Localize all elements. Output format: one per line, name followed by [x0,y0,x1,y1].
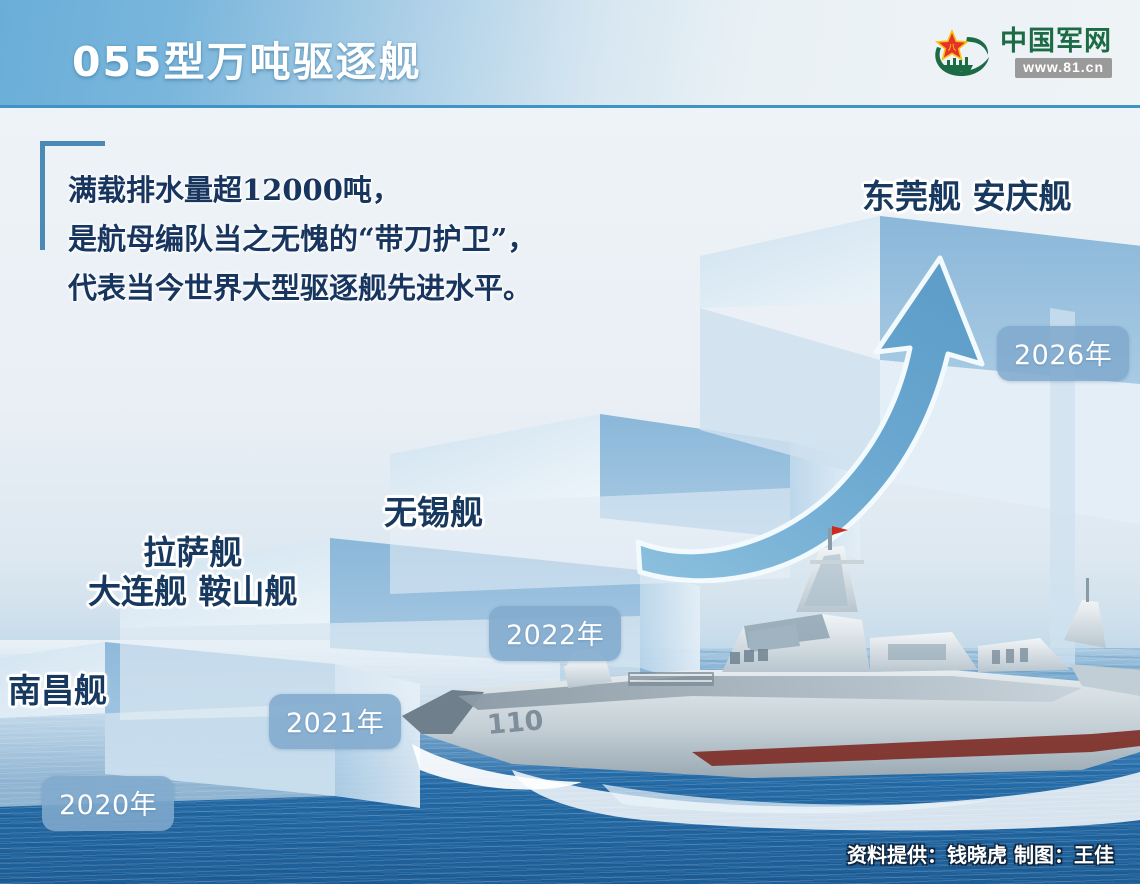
ship-name: 拉萨舰 [88,534,298,573]
credit-line: 资料提供：钱晓虎 制图：王佳 [847,839,1114,868]
svg-text:八: 八 [947,43,957,52]
logo-url: www.81.cn [1015,58,1112,78]
year-badge-2021[interactable]: 2021年 [269,694,401,749]
ship-label-2021: 拉萨舰 大连舰 鞍山舰 [88,534,298,612]
year-badge-2020[interactable]: 2020年 [42,776,174,831]
quote-line-1: 满载排水量超12000吨， [68,166,708,215]
ship-label-2022: 无锡舰 [384,494,483,533]
year-badge-2026[interactable]: 2026年 [997,326,1129,381]
logo-mark: 八 [929,27,991,79]
ship-name: 无锡舰 [384,494,483,533]
quote-line-3: 代表当今世界大型驱逐舰先进水平。 [68,264,708,313]
infographic-canvas: 055型万吨驱逐舰 八 [0,0,1140,884]
quote-text: 满载排水量超12000吨， 是航母编队当之无愧的“带刀护卫”， 代表当今世界大型… [68,166,708,313]
hull-number: 110 [486,705,545,741]
logo-name: 中国军网 [1000,28,1112,55]
site-logo[interactable]: 八 中国军网 www.81.cn [929,27,1112,79]
ship-label-2020: 南昌舰 [8,672,107,711]
header-bar: 055型万吨驱逐舰 八 [0,0,1140,108]
red-star-icon: 八 [937,31,967,59]
destroyer-photo: 110 [392,520,1140,840]
ship-name: 南昌舰 [8,672,107,711]
ship-label-2026: 东莞舰 安庆舰 [862,178,1072,217]
ship-name: 东莞舰 安庆舰 [862,178,1072,217]
page-title: 055型万吨驱逐舰 [72,28,422,88]
year-badge-2022[interactable]: 2022年 [489,606,621,661]
quote-line-2: 是航母编队当之无愧的“带刀护卫”， [68,215,708,264]
ship-name: 大连舰 鞍山舰 [88,573,298,612]
